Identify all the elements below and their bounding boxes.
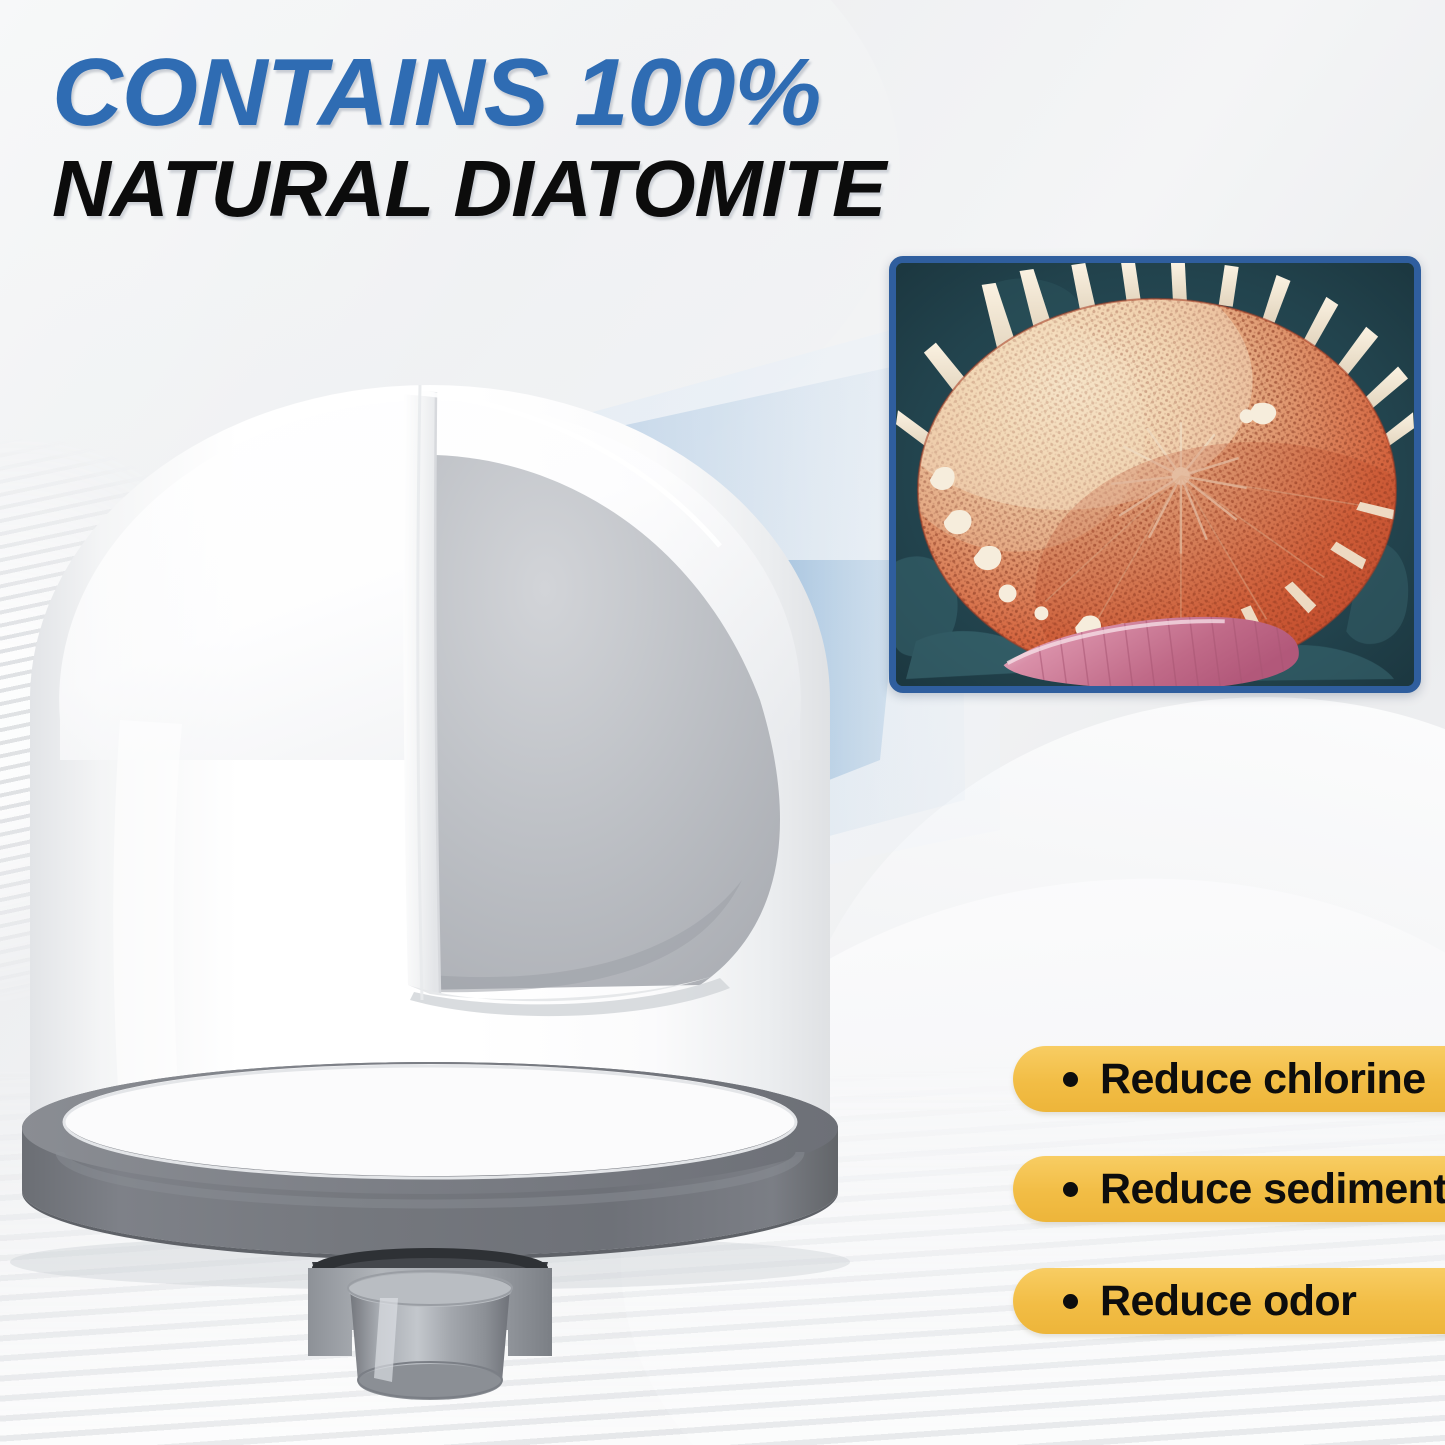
headline-line-1: CONTAINS 100% xyxy=(52,44,1052,142)
bullet-icon xyxy=(1063,1182,1078,1197)
bullet-icon xyxy=(1063,1294,1078,1309)
benefit-label: Reduce sediment xyxy=(1100,1165,1445,1214)
headline-line-2: NATURAL DIATOMITE xyxy=(52,148,1052,230)
benefit-label: Reduce chlorine xyxy=(1100,1055,1426,1104)
bullet-icon xyxy=(1063,1072,1078,1087)
diatom-micrograph-panel xyxy=(889,256,1421,693)
benefit-pill-reduce-odor[interactable]: Reduce odor xyxy=(1013,1268,1445,1334)
headline-block: CONTAINS 100% NATURAL DIATOMITE xyxy=(52,44,1032,230)
benefit-pill-reduce-chlorine[interactable]: Reduce chlorine xyxy=(1013,1046,1445,1112)
product-feature-graphic: CONTAINS 100% NATURAL DIATOMITE xyxy=(0,0,1445,1445)
benefit-label: Reduce odor xyxy=(1100,1277,1356,1326)
benefit-pill-reduce-sediment[interactable]: Reduce sediment xyxy=(1013,1156,1445,1222)
